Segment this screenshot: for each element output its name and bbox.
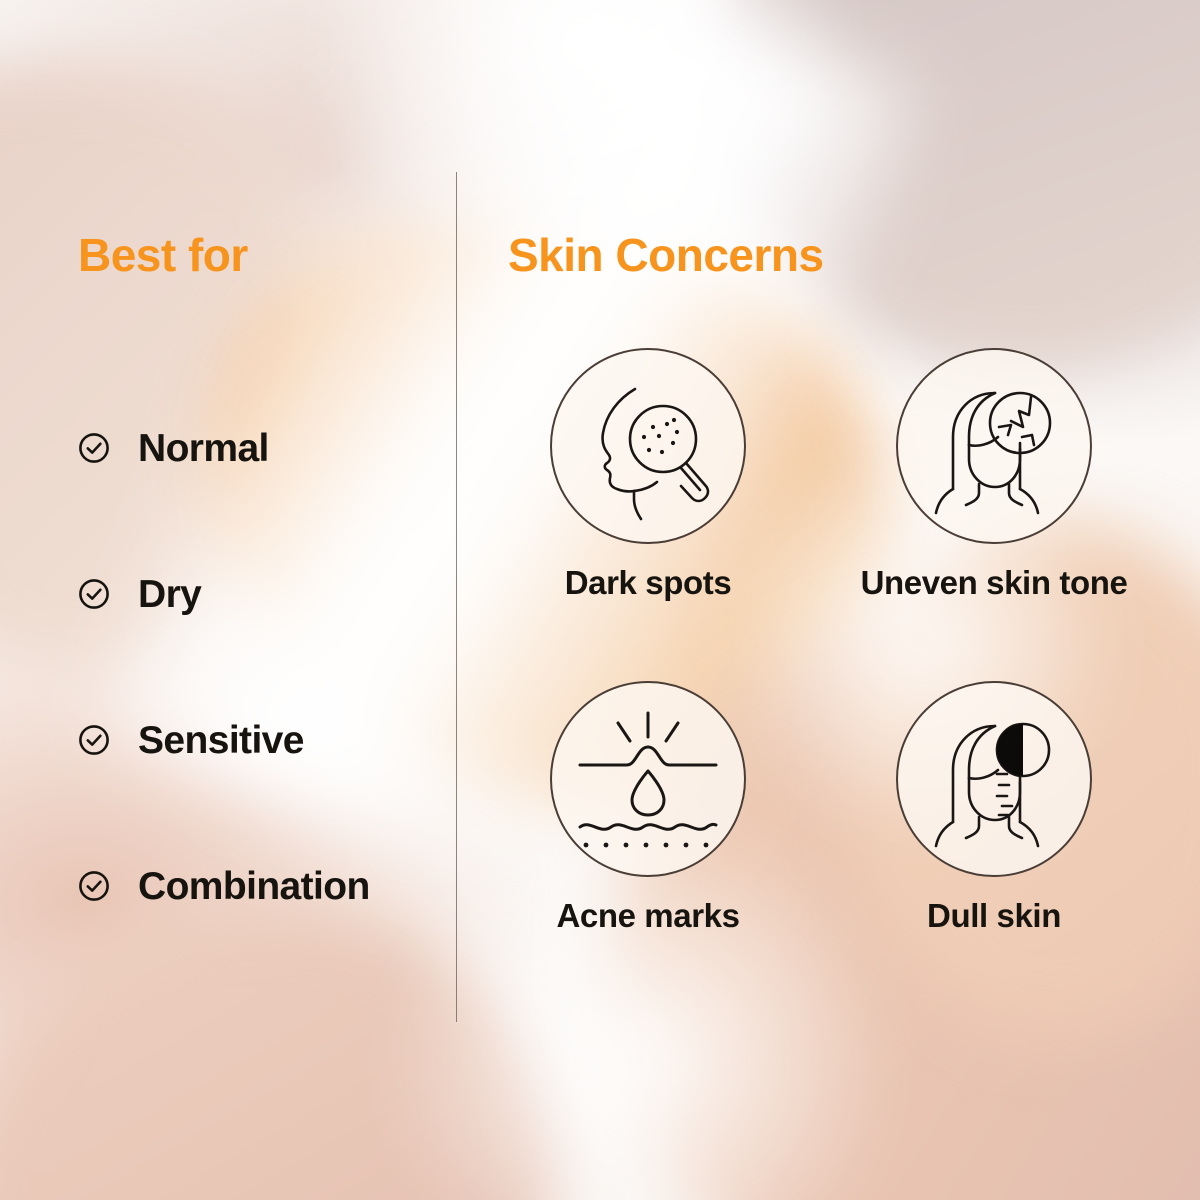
concerns-row-top: Dark spots <box>500 348 1180 599</box>
skin-concerns-heading: Skin Concerns <box>508 232 824 278</box>
skin-layer-pimple-drop-icon <box>572 703 724 855</box>
list-item: Combination <box>78 846 458 926</box>
face-magnifier-spots-icon <box>573 371 723 521</box>
skin-concerns-grid: Dark spots <box>500 348 1180 932</box>
woman-patchy-tone-icon <box>919 371 1069 521</box>
list-item-label: Combination <box>138 867 370 906</box>
skin-concerns-section: Skin Concerns <box>508 232 824 278</box>
list-item-label: Sensitive <box>138 721 304 760</box>
concern-icon-badge <box>550 348 746 544</box>
list-item-label: Normal <box>138 429 269 468</box>
best-for-heading: Best for <box>78 232 438 278</box>
concern-item-acne-marks: Acne marks <box>500 681 796 932</box>
list-item-label: Dry <box>138 575 201 614</box>
concern-label: Dull skin <box>927 899 1061 932</box>
list-item: Dry <box>78 554 458 634</box>
concern-icon-badge <box>896 681 1092 877</box>
concern-label: Acne marks <box>556 899 739 932</box>
concern-icon-badge <box>896 348 1092 544</box>
concern-item-dull-skin: Dull skin <box>846 681 1142 932</box>
check-circle-icon <box>78 432 110 464</box>
list-item: Sensitive <box>78 700 458 780</box>
concern-item-dark-spots: Dark spots <box>500 348 796 599</box>
check-circle-icon <box>78 724 110 756</box>
best-for-section: Best for <box>78 232 438 278</box>
concern-item-uneven-skin-tone: Uneven skin tone <box>846 348 1142 599</box>
woman-contrast-circle-icon <box>919 704 1069 854</box>
check-circle-icon <box>78 870 110 902</box>
product-infographic: Best for Normal Dry <box>0 0 1200 1200</box>
concern-label: Uneven skin tone <box>861 566 1128 599</box>
list-item: Normal <box>78 408 458 488</box>
concern-label: Dark spots <box>565 566 732 599</box>
check-circle-icon <box>78 578 110 610</box>
best-for-list: Normal Dry Sensitive <box>78 408 458 926</box>
concern-icon-badge <box>550 681 746 877</box>
concerns-row-bottom: Acne marks <box>500 681 1180 932</box>
